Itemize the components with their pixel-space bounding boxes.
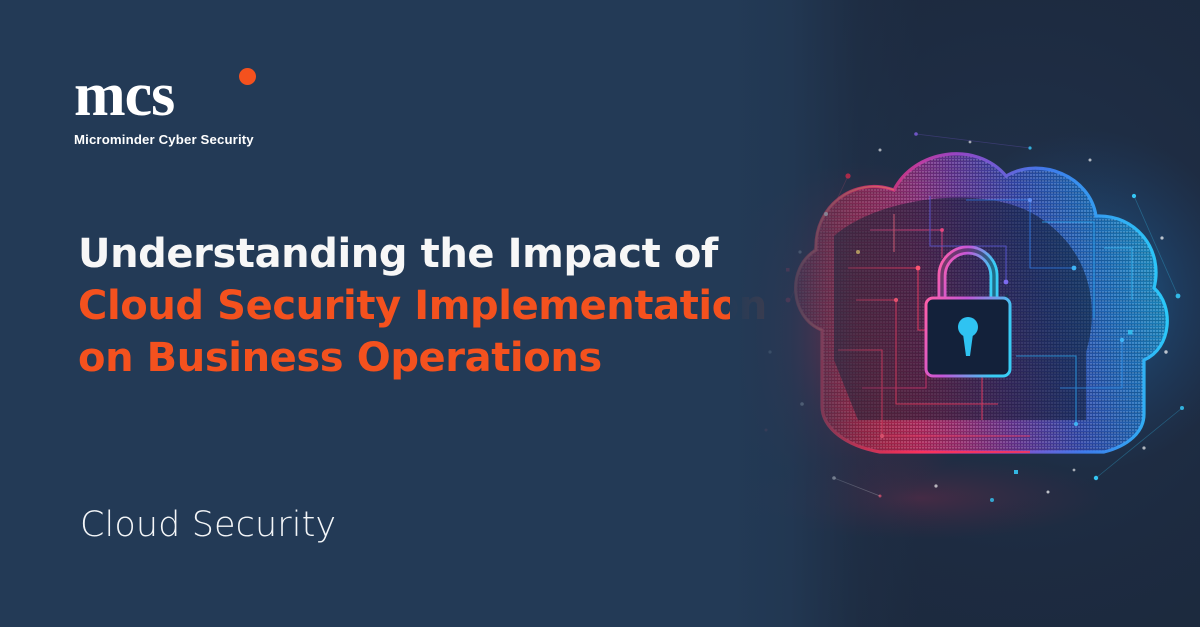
headline-line-1: Understanding the Impact of — [78, 228, 808, 280]
headline-line-2: Cloud Security Implementation — [78, 280, 808, 332]
logo-mark: mcs — [74, 66, 284, 124]
floor-glow — [730, 456, 1110, 540]
blog-banner: mcs Microminder Cyber Security Understan… — [0, 0, 1200, 627]
category-label[interactable]: Cloud Security — [80, 503, 336, 547]
orange-dot-icon — [239, 68, 256, 85]
logo[interactable]: mcs Microminder Cyber Security — [74, 66, 284, 147]
logo-tagline: Microminder Cyber Security — [74, 132, 284, 147]
headline-line-3: on Business Operations — [78, 332, 808, 384]
page-title: Understanding the Impact of Cloud Securi… — [78, 228, 808, 384]
